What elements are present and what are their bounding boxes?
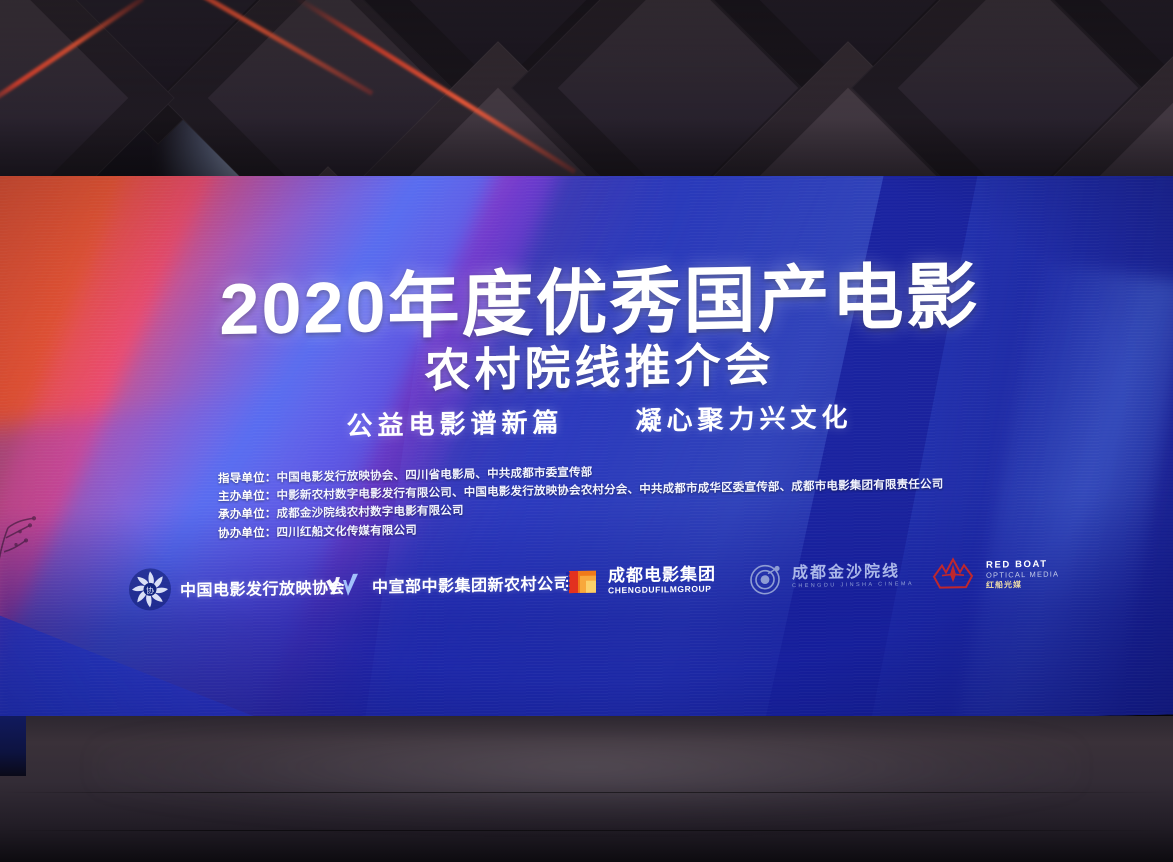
- pinwheel-flower-icon: 协: [128, 567, 172, 612]
- svg-text:协: 协: [146, 585, 154, 595]
- logo-label-china-film-distribution-assoc: 中国电影发行放映协会: [180, 574, 345, 601]
- logo-label-chengdu-jinsha-cinema-line: 成都金沙院线 CHENGDU JINSHA CINEMA: [792, 563, 914, 591]
- floor-seam: [0, 830, 1173, 831]
- logo-chengdu-jinsha-cinema-line: 成都金沙院线 CHENGDU JINSHA CINEMA: [748, 558, 914, 597]
- logo-label-cn: 成都金沙院线: [792, 563, 914, 582]
- slogan-right: 凝心聚力兴文化: [636, 397, 853, 438]
- logo-label-cpd-china-film-group-new-rural: 中宣部中影集团新农村公司: [372, 570, 570, 597]
- logo-label-en: CHENGDUFILMGROUP: [608, 583, 716, 596]
- floor-seam: [0, 792, 1173, 793]
- logo-label-red-boat-optical-media: RED BOAT OPTICAL MEDIA 红船光媒: [986, 558, 1059, 590]
- stage-photo: 2020年度优秀国产电影 农村院线推介会 公益电影谱新篇 凝心聚力兴文化 指导单…: [0, 0, 1173, 862]
- logo-label-en: CHENGDU JINSHA CINEMA: [792, 580, 914, 591]
- red-boat-icon: [928, 556, 978, 595]
- logo-label-chengdu-film-group: 成都电影集团 CHENGDUFILMGROUP: [608, 565, 716, 596]
- stage-floor: [0, 716, 1173, 862]
- logo-china-film-distribution-assoc: 协 中国电影发行放映协会: [128, 564, 345, 612]
- sponsor-logo-row: 协 中国电影发行放映协会 中宣部中影集团新农村公司: [128, 547, 1078, 616]
- logo-cpd-china-film-group-new-rural: 中宣部中影集团新农村公司: [324, 565, 570, 603]
- orange-film-strip-icon: [566, 567, 600, 598]
- led-screen-content: 2020年度优秀国产电影 农村院线推介会 公益电影谱新篇 凝心聚力兴文化 指导单…: [0, 156, 1173, 724]
- credit-label: 协办单位：: [218, 527, 277, 540]
- credits-block: 指导单位：中国电影发行放映协会、四川省电影局、中共成都市委宣传部 主办单位：中影…: [218, 458, 943, 543]
- double-check-mark-icon: [324, 569, 364, 604]
- credit-value: 成都金沙院线农村数字电影有限公司: [277, 505, 464, 520]
- logo-red-boat-optical-media: RED BOAT OPTICAL MEDIA 红船光媒: [928, 555, 1059, 595]
- credit-label: 指导单位：: [218, 472, 277, 485]
- logo-label-cn: 成都电影集团: [608, 565, 716, 585]
- credit-label: 承办单位：: [218, 509, 277, 522]
- credit-value: 四川红船文化传媒有限公司: [277, 524, 417, 538]
- logo-label-en-secondary: OPTICAL MEDIA: [986, 569, 1059, 580]
- credit-value: 中国电影发行放映协会、四川省电影局、中共成都市委宣传部: [277, 467, 593, 485]
- floor-left-shadow: [0, 716, 26, 776]
- logo-chengdu-film-group: 成都电影集团 CHENGDUFILMGROUP: [566, 565, 716, 598]
- credit-label: 主办单位：: [218, 490, 277, 503]
- slogan-left: 公益电影谱新篇: [346, 402, 563, 443]
- circular-orbit-icon: [748, 560, 784, 597]
- logo-label-cn: 红船光媒: [986, 579, 1059, 590]
- floor-light-reflection: [94, 731, 1079, 822]
